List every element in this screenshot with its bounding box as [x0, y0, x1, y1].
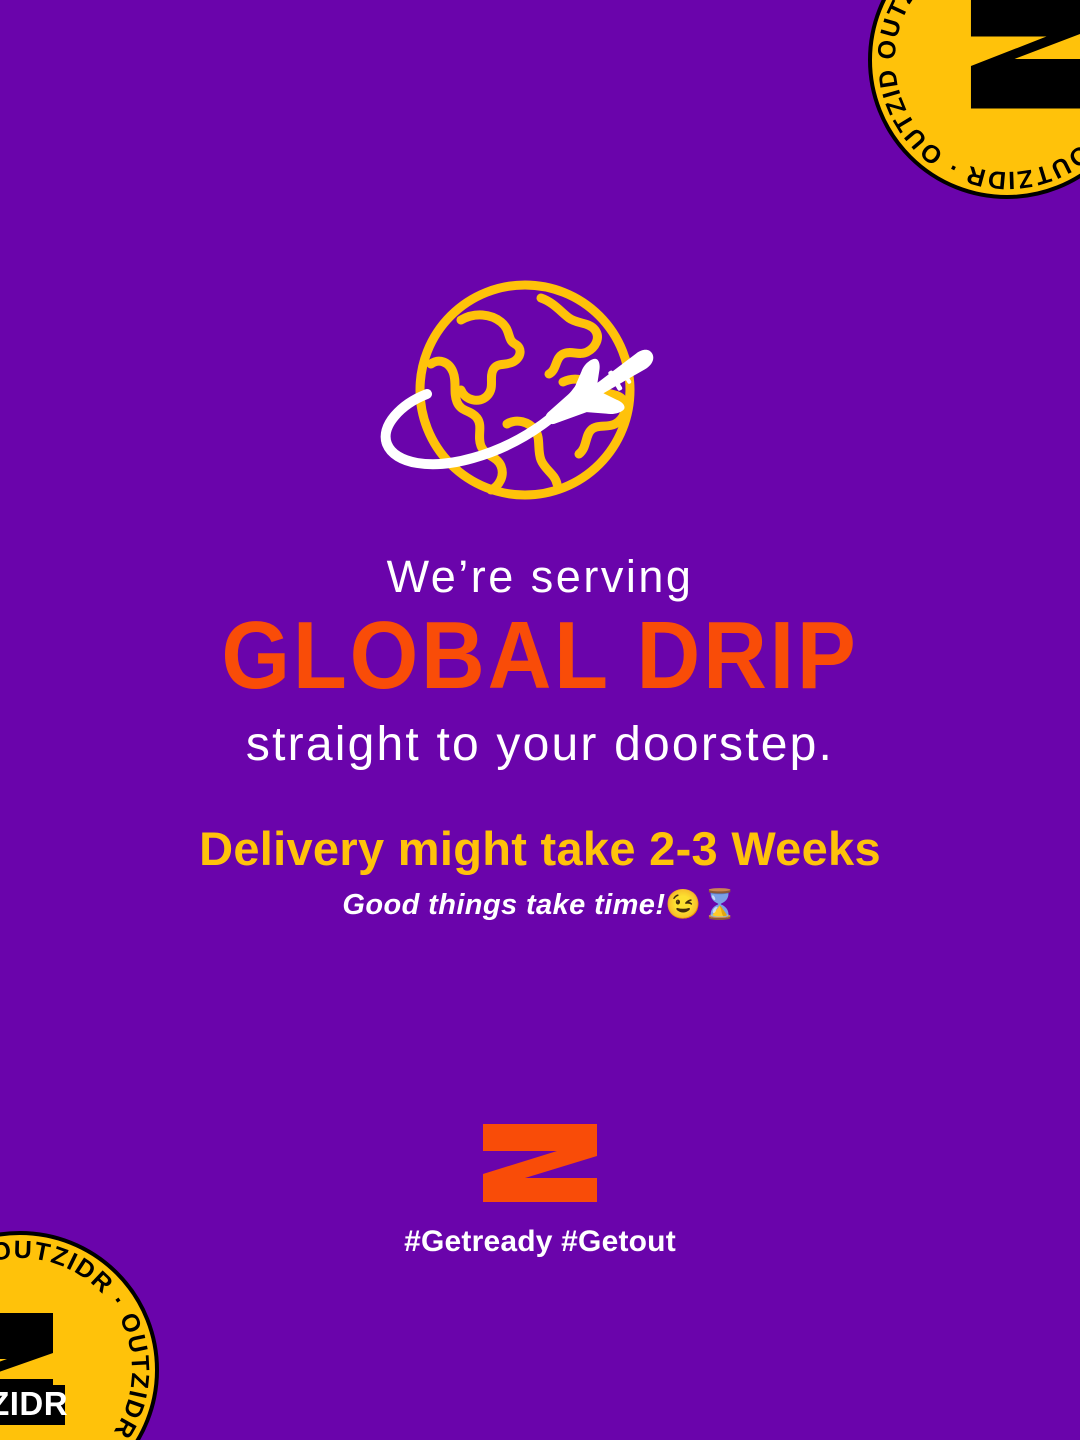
headline-line-1: We’re serving [0, 552, 1080, 602]
globe-airplane-illustration [365, 278, 715, 508]
delivery-time-text: Delivery might take 2-3 Weeks [0, 822, 1080, 876]
delivery-subtext-label: Good things take time! [342, 889, 665, 921]
poster-canvas: OUTZIDR · OUTZIDR · OUTZIDR · OUTZIDR · … [0, 0, 1080, 1440]
delivery-subtext: Good things take time!😉⌛ [0, 888, 1080, 922]
brand-z-logo-icon [479, 1122, 601, 1204]
footer-hashtags: #Getready #Getout [0, 1225, 1080, 1259]
badge-top-right: OUTZIDR · OUTZIDR · OUTZIDR · OUTZIDR · … [862, 0, 1080, 205]
svg-text:OUTZIDR: OUTZIDR [0, 1385, 68, 1422]
footer-block: #Getready #Getout [0, 1122, 1080, 1259]
delivery-emoji: 😉⌛ [665, 889, 737, 921]
headline-line-3: straight to your doorstep. [0, 718, 1080, 772]
delivery-block: Delivery might take 2-3 Weeks Good thing… [0, 822, 1080, 922]
headline-line-2: GLOBAL DRIP [43, 608, 1037, 704]
headline-block: We’re serving GLOBAL DRIP straight to yo… [0, 552, 1080, 772]
